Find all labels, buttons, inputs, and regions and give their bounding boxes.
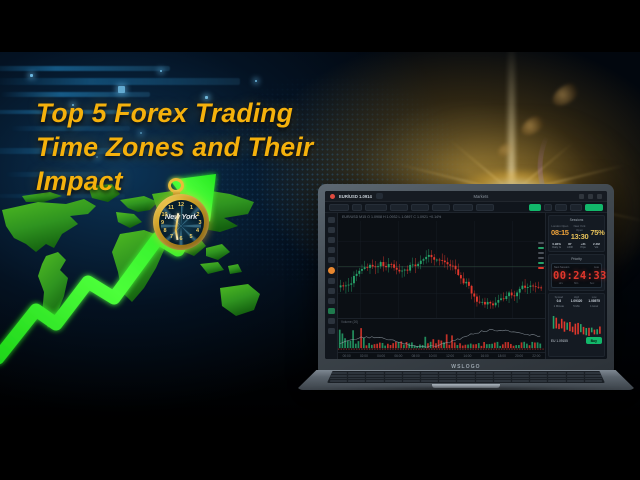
quote-stat-spread: Spread0.8 — [551, 296, 567, 303]
keyboard-key — [348, 378, 365, 380]
minichart-tab-1[interactable]: 5 Min — [569, 305, 585, 308]
chart-legend-text: EUR/USD M15 O 1.0908 H 1.0932 L 1.0897 C… — [342, 215, 441, 219]
keyboard-key — [512, 380, 529, 382]
compass-num-2: 2 — [194, 212, 202, 218]
session-newyork: New York Open 13:30 — [571, 224, 589, 241]
mini-stat-2: +31Pips — [578, 242, 589, 249]
toolbar-item-replay[interactable] — [453, 204, 473, 211]
timer-unit-min: Min — [574, 282, 578, 285]
keyboard-key — [585, 375, 602, 377]
time-axis-label-6: 12:00 — [446, 354, 454, 358]
toolbar-item-alert[interactable] — [432, 204, 450, 211]
compass-num-10: 10 — [161, 212, 169, 218]
quote-stat-high: High1.09320 — [569, 296, 585, 303]
countdown-value: 00:24:33 — [553, 270, 600, 282]
sidebar-item-grid[interactable] — [328, 278, 335, 284]
compass-num-9: 9 — [159, 220, 167, 226]
keyboard-row — [330, 372, 602, 374]
time-axis-label-0: 00:00 — [343, 354, 351, 358]
keyboard-key — [530, 380, 547, 382]
keyboard-key — [476, 375, 493, 377]
sidebar-item-watchlist[interactable] — [328, 227, 335, 233]
app-sidebar-rail — [325, 213, 338, 359]
keyboard-key — [439, 380, 456, 382]
sessions-card-title: Sessions — [551, 218, 602, 222]
time-axis-label-1: 02:00 — [360, 354, 368, 358]
keyboard-key — [439, 372, 456, 374]
sidebar-item-calendar[interactable] — [328, 247, 335, 253]
sidebar-item-alerts[interactable] — [328, 298, 335, 304]
app-logo-icon — [330, 194, 335, 199]
toolbar-sell-button[interactable] — [585, 204, 603, 211]
sidebar-item-stats[interactable] — [328, 257, 335, 263]
app-toolbar — [325, 202, 607, 213]
time-axis-label-8: 16:00 — [481, 354, 489, 358]
order-row: EU 1.09155 Buy — [551, 337, 602, 344]
laptop-mockup: WSLOGO EUR/USD 1.0914 Markets — [296, 184, 636, 424]
toolbar-buy-button[interactable] — [529, 204, 541, 211]
toolbar-range-1d[interactable] — [544, 204, 552, 211]
session-progress: 75% — [590, 224, 604, 241]
session-mini-stats: 0.92%Daily G 87ADR +31Pips 2.4MVol — [551, 242, 602, 249]
user-icon[interactable] — [597, 194, 602, 199]
minichart-tabs: 1 Minute 5 Min 1 Hour — [551, 305, 602, 308]
compass-num-8: 8 — [161, 228, 169, 234]
compass-body: New York 12 1 2 3 4 5 6 7 8 9 10 11 — [153, 194, 209, 250]
scene-stage: Top 5 Forex Trading Time Zones and Their… — [0, 52, 640, 425]
time-axis-label-2: 04:00 — [377, 354, 385, 358]
laptop-lid: WSLOGO EUR/USD 1.0914 Markets — [318, 184, 614, 372]
mini-stat-0: 0.92%Daily G — [551, 242, 562, 249]
keyboard-key — [348, 375, 365, 377]
timer-card: Priority Next Session Live 00:24:33 Hrs — [548, 254, 605, 291]
session-progress-value: 75% — [590, 228, 604, 237]
countdown-timer: Next Session Live 00:24:33 Hrs Min Sec — [551, 263, 602, 289]
keyboard-key — [457, 378, 474, 380]
timer-card-title: Priority — [551, 257, 602, 261]
quote-card: Spread0.8 High1.09320 Low1.08975 1 Minut… — [548, 293, 605, 357]
keyboard-key — [439, 378, 456, 380]
topbar-center-label: Markets — [387, 194, 575, 199]
minichart-tab-0[interactable]: 1 Minute — [551, 305, 567, 308]
keyboard-key — [403, 380, 420, 382]
mini-stat-1: 87ADR — [564, 242, 575, 249]
keyboard-key — [366, 380, 383, 382]
time-axis-label-11: 22:00 — [532, 354, 540, 358]
time-axis-label-5: 10:00 — [429, 354, 437, 358]
keyboard-key — [494, 378, 511, 380]
letterbox-top — [0, 0, 640, 52]
candlestick-chart[interactable] — [338, 221, 545, 318]
compass-icon: New York 12 1 2 3 4 5 6 7 8 9 10 11 — [152, 176, 214, 252]
keyboard-key — [567, 378, 584, 380]
keyboard-row — [330, 375, 602, 377]
toolbar-range-5d[interactable] — [555, 204, 567, 211]
compass-face: New York 12 1 2 3 4 5 6 7 8 9 10 11 — [159, 200, 204, 245]
toolbar-item-layout[interactable] — [476, 204, 494, 211]
keyboard-key — [476, 378, 493, 380]
keyboard-key — [403, 375, 420, 377]
keyboard-key — [421, 372, 438, 374]
keyboard-key — [330, 378, 347, 380]
gear-icon[interactable] — [588, 194, 593, 199]
keyboard-key — [439, 375, 456, 377]
compass-num-7: 7 — [168, 234, 176, 240]
keyboard-key — [385, 372, 402, 374]
keyboard-key — [567, 372, 584, 374]
keyboard-key — [330, 375, 347, 377]
sidebar-item-account[interactable] — [328, 267, 335, 274]
mini-candlestick-chart[interactable] — [551, 310, 602, 336]
keyboard-key — [366, 378, 383, 380]
keyboard-key — [457, 375, 474, 377]
keyboard-key — [585, 378, 602, 380]
bell-icon[interactable] — [579, 194, 584, 199]
toolbar-item-templates[interactable] — [411, 204, 429, 211]
volume-indicator-panel[interactable]: Volume (20) — [338, 318, 545, 352]
title-line-2: Time Zones and Their — [36, 130, 366, 164]
keyboard-key — [530, 375, 547, 377]
compass-num-11: 11 — [167, 205, 175, 211]
keyboard-key — [366, 372, 383, 374]
time-axis-label-9: 18:00 — [498, 354, 506, 358]
keyboard-key — [585, 372, 602, 374]
keyboard-key — [457, 372, 474, 374]
session-london-value: 08:15 — [551, 228, 569, 237]
laptop-screen: EUR/USD 1.0914 Markets — [325, 191, 607, 359]
keyboard-key — [494, 375, 511, 377]
timer-head-right: Live — [594, 266, 599, 269]
quote-stats: Spread0.8 High1.09320 Low1.08975 — [551, 296, 602, 303]
keyboard-key — [548, 380, 565, 382]
keyboard-key — [385, 375, 402, 377]
keyboard-key — [385, 378, 402, 380]
keyboard-key — [512, 372, 529, 374]
laptop-brand-logo: WSLOGO — [318, 364, 614, 370]
keyboard-key — [585, 380, 602, 382]
keyboard-key — [330, 372, 347, 374]
keyboard-key — [494, 380, 511, 382]
keyboard-row — [330, 380, 602, 382]
keyboard-key — [548, 375, 565, 377]
keyboard-key — [457, 380, 474, 382]
compass-num-1: 1 — [188, 205, 196, 211]
time-axis: 00:0002:0004:0006:0008:0010:0012:0014:00… — [338, 352, 545, 359]
quote-stat-low: Low1.08975 — [586, 296, 602, 303]
chart-legend: EUR/USD M15 O 1.0908 H 1.0932 L 1.0897 C… — [338, 213, 545, 221]
laptop-keyboard — [327, 371, 605, 383]
sessions-card: Sessions London Open 08:15 New York Open… — [548, 215, 605, 252]
keyboard-key — [530, 378, 547, 380]
timer-unit-sec: Sec — [590, 282, 594, 285]
keyboard-key — [548, 372, 565, 374]
keyboard-key — [421, 378, 438, 380]
keyboard-key — [385, 380, 402, 382]
compass-num-12: 12 — [177, 202, 185, 208]
time-axis-label-7: 14:00 — [463, 354, 471, 358]
keyboard-key — [530, 372, 547, 374]
time-axis-label-4: 08:00 — [412, 354, 420, 358]
session-newyork-label: New York Open — [571, 224, 589, 232]
keyboard-key — [567, 380, 584, 382]
video-frame: Top 5 Forex Trading Time Zones and Their… — [0, 0, 640, 480]
price-scale — [538, 242, 544, 269]
session-newyork-value: 13:30 — [571, 232, 589, 241]
toolbar-range-1m[interactable] — [570, 204, 582, 211]
search-icon[interactable] — [376, 193, 383, 199]
app-body: EUR/USD M15 O 1.0908 H 1.0932 L 1.0897 C… — [325, 213, 607, 359]
toolbar-item-indicators[interactable] — [365, 204, 387, 211]
session-london: London Open 08:15 — [551, 224, 569, 241]
keyboard-key — [567, 375, 584, 377]
toolbar-timeframe[interactable] — [352, 204, 362, 211]
keyboard-key — [494, 372, 511, 374]
timer-head-left: Next Session — [554, 266, 569, 269]
sidebar-item-history[interactable] — [328, 318, 335, 324]
minichart-tab-2[interactable]: 1 Hour — [586, 305, 602, 308]
keyboard-key — [403, 372, 420, 374]
keyboard-key — [476, 372, 493, 374]
keyboard-key — [512, 378, 529, 380]
sidebar-item-orders[interactable] — [328, 308, 335, 314]
keyboard-key — [348, 380, 365, 382]
title-line-1: Top 5 Forex Trading — [36, 96, 366, 130]
toolbar-item-compare[interactable] — [390, 204, 408, 211]
keyboard-key — [421, 375, 438, 377]
keyboard-key — [403, 378, 420, 380]
order-price: EU 1.09155 — [551, 339, 584, 343]
keyboard-key — [330, 380, 347, 382]
buy-button[interactable]: Buy — [586, 337, 602, 344]
time-axis-label-10: 20:00 — [515, 354, 523, 358]
keyboard-key — [348, 372, 365, 374]
keyboard-key — [476, 380, 493, 382]
keyboard-key — [366, 375, 383, 377]
compass-num-5: 5 — [187, 234, 195, 240]
keyboard-key — [512, 375, 529, 377]
compass-num-3: 3 — [196, 220, 204, 226]
keyboard-key — [421, 380, 438, 382]
letterbox-bottom — [0, 425, 640, 480]
sidebar-item-news[interactable] — [328, 288, 335, 294]
laptop-shadow — [310, 387, 622, 392]
sidebar-item-chart[interactable] — [328, 217, 335, 223]
session-london-label: London Open — [551, 224, 569, 228]
chart-zone: EUR/USD M15 O 1.0908 H 1.0932 L 1.0897 C… — [338, 213, 545, 359]
keyboard-key — [548, 378, 565, 380]
sidebar-item-settings[interactable] — [328, 328, 335, 334]
topbar-ticker[interactable]: EUR/USD 1.0914 — [339, 194, 372, 199]
timer-unit-hrs: Hrs — [559, 282, 563, 285]
toolbar-symbol[interactable] — [329, 204, 349, 211]
sidebar-item-home[interactable] — [328, 237, 335, 243]
keyboard-row — [330, 378, 602, 380]
time-axis-label-3: 06:00 — [394, 354, 402, 358]
app-topbar: EUR/USD 1.0914 Markets — [325, 191, 607, 202]
mini-stat-3: 2.4MVol — [591, 242, 602, 249]
right-panel: Sessions London Open 08:15 New York Open… — [545, 213, 607, 359]
